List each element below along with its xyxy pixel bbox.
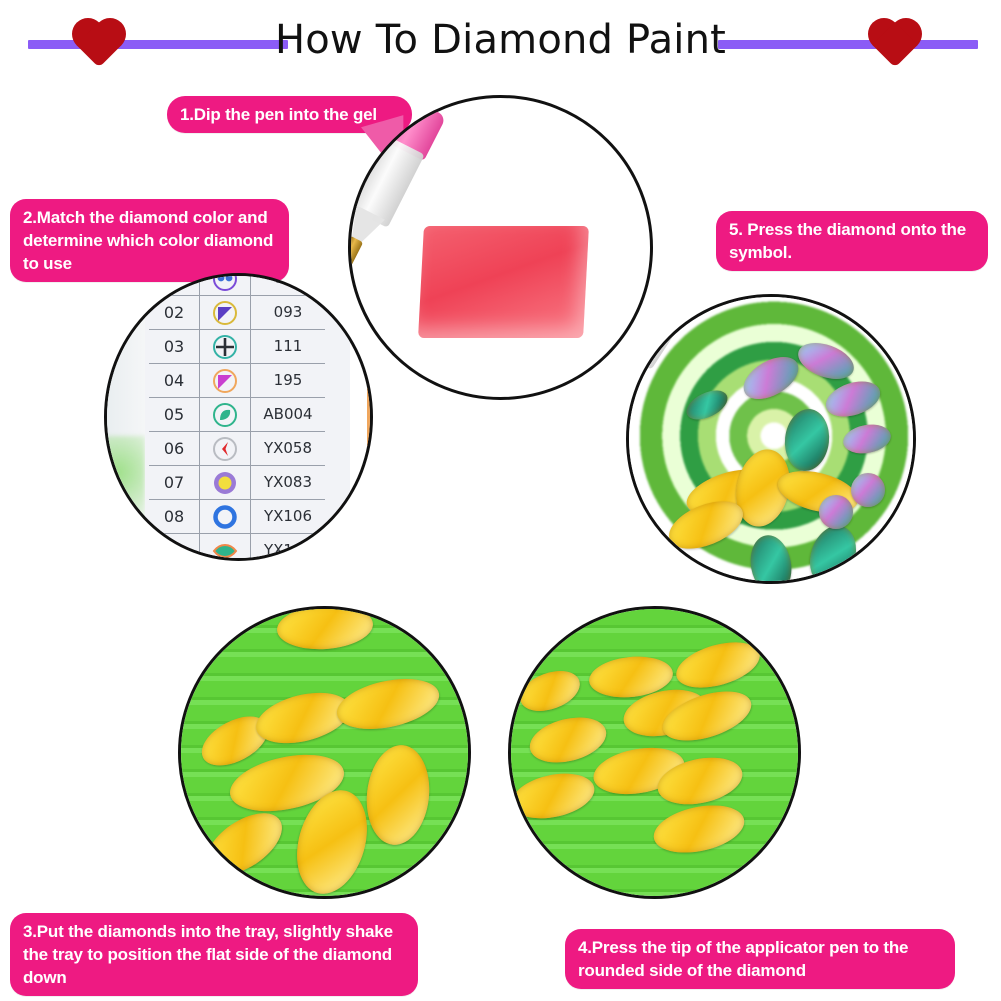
chart-color-name: 093 — [251, 296, 325, 329]
quarter-wedge-icon — [200, 364, 251, 397]
color-chart-row: 09YX125 — [149, 534, 325, 561]
chart-orange-line — [367, 273, 370, 561]
color-chart-row: 02093 — [149, 296, 325, 330]
chart-color-name: 111 — [251, 330, 325, 363]
color-chart-row: 03111 — [149, 330, 325, 364]
chart-color-name: AB004 — [251, 398, 325, 431]
marquise-icon — [200, 534, 251, 561]
step-4-label: 4.Press the tip of the applicator pen to… — [565, 929, 955, 989]
step-3-photo — [178, 606, 471, 899]
chart-code: 02 — [149, 296, 200, 329]
canvas-edge — [107, 276, 149, 561]
chart-code: 05 — [149, 398, 200, 431]
chart-code: 09 — [149, 534, 200, 561]
chart-code: 03 — [149, 330, 200, 363]
chart-code: 08 — [149, 500, 200, 533]
canvas-green-blur — [105, 436, 145, 526]
chart-color-name: YX058 — [251, 432, 325, 465]
chart-color-name: YX083 — [251, 466, 325, 499]
step-5-label: 5. Press the diamond onto the symbol. — [716, 211, 988, 271]
step-1-photo — [348, 95, 653, 400]
quarter-wedge-icon — [200, 296, 251, 329]
chart-color-name: YX125 — [251, 534, 325, 561]
leaf-icon — [200, 398, 251, 431]
diamond-gem — [851, 473, 885, 507]
color-chart-row: 06YX058 — [149, 432, 325, 466]
chart-code: 04 — [149, 364, 200, 397]
chart-color-name: YX106 — [251, 500, 325, 533]
step-5-photo — [626, 294, 916, 584]
color-chart-row: 01020 — [149, 273, 325, 296]
chart-color-name: 020 — [251, 273, 325, 295]
step-3-label: 3.Put the diamonds into the tray, slight… — [10, 913, 418, 996]
plus-icon — [200, 330, 251, 363]
page-title: How To Diamond Paint — [0, 16, 1001, 64]
diamond-gem — [819, 495, 853, 529]
header-banner: How To Diamond Paint — [0, 0, 1001, 90]
gel-pad — [418, 226, 589, 338]
color-chart-row: 08YX106 — [149, 500, 325, 534]
step-4-photo — [508, 606, 801, 899]
step-2-photo: 0102002093031110419505AB00406YX05807YX08… — [104, 273, 373, 561]
chart-code: 07 — [149, 466, 200, 499]
filled-circle-icon — [200, 466, 251, 499]
color-chart-row: 05AB004 — [149, 398, 325, 432]
chevron-left-icon — [200, 432, 251, 465]
color-chart-table: 0102002093031110419505AB00406YX05807YX08… — [149, 273, 325, 561]
double-dot-icon — [200, 273, 251, 295]
chart-code: 06 — [149, 432, 200, 465]
step-2-label: 2.Match the diamond color and determine … — [10, 199, 289, 282]
ring-icon — [200, 500, 251, 533]
chart-color-name: 195 — [251, 364, 325, 397]
color-chart-row: 04195 — [149, 364, 325, 398]
color-chart-row: 07YX083 — [149, 466, 325, 500]
chart-code: 01 — [149, 273, 200, 295]
